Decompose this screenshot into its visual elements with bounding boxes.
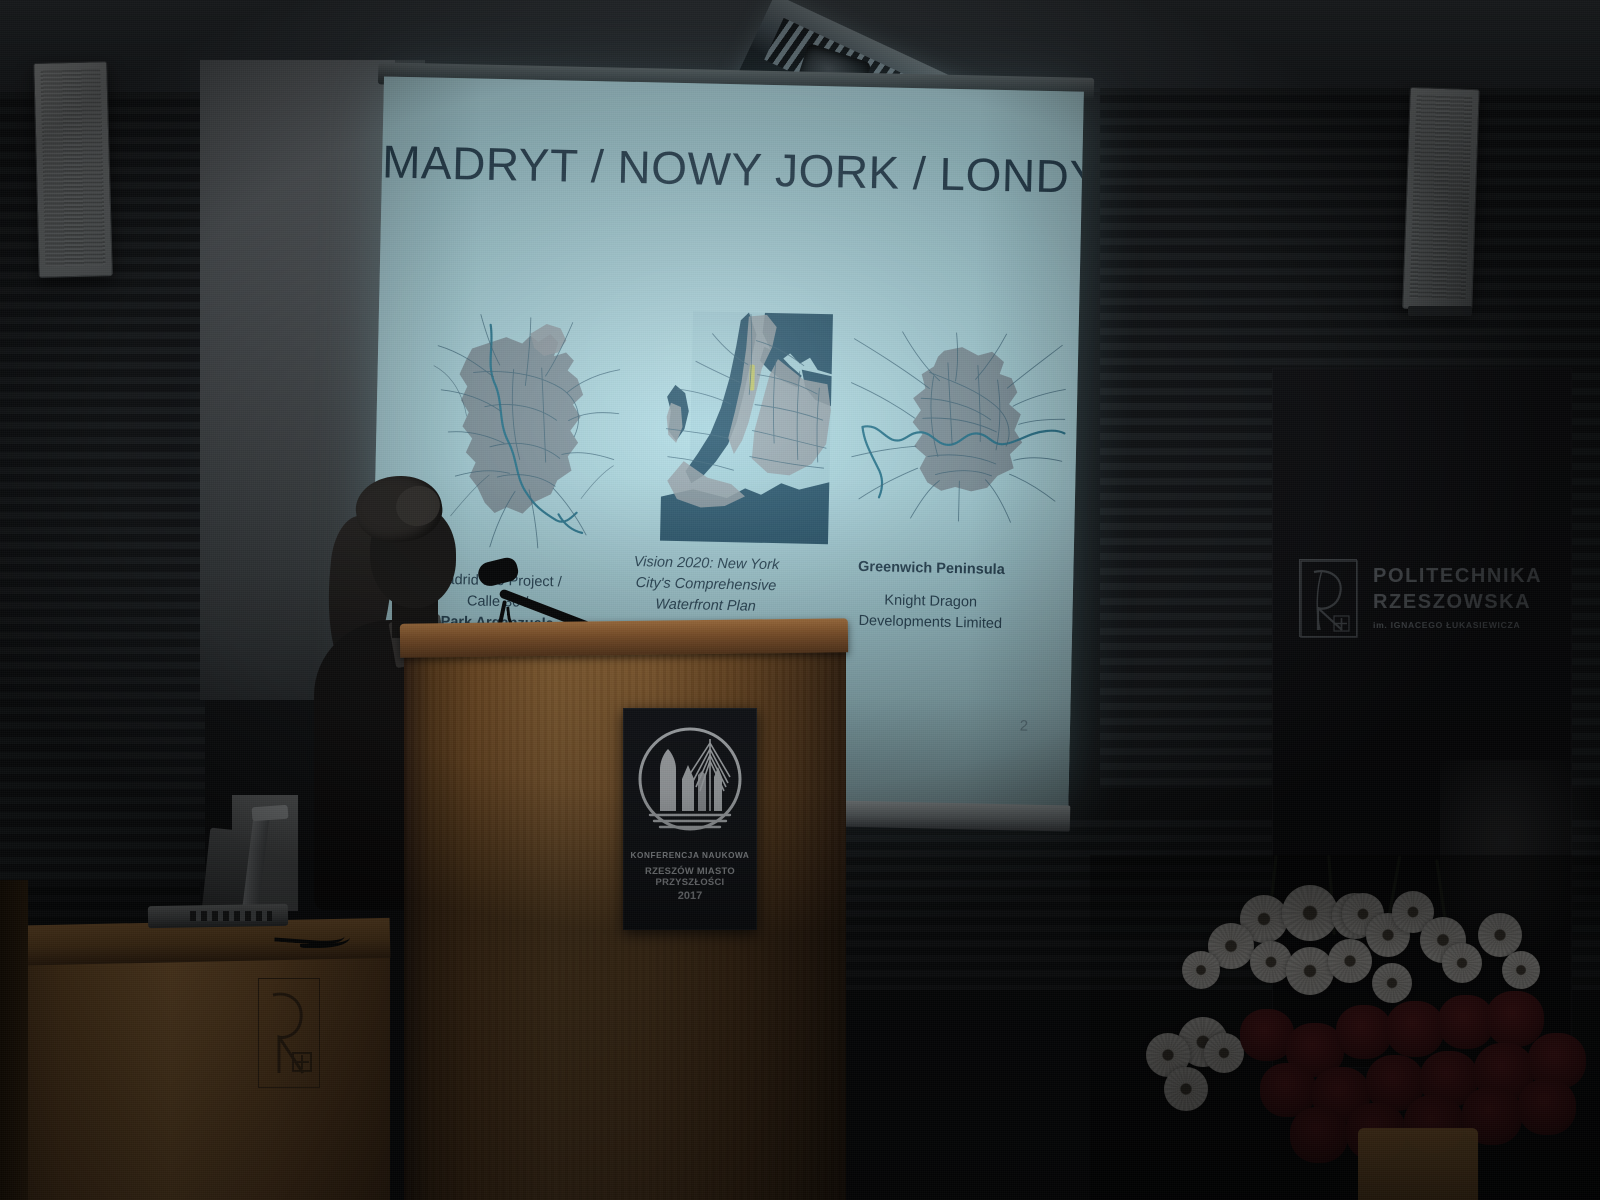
red-carnation bbox=[1518, 1079, 1576, 1135]
red-carnation bbox=[1290, 1107, 1348, 1163]
ny-caption-line-3: Waterfront Plan bbox=[590, 593, 820, 619]
banner-line-1: POLITECHNIKA bbox=[1373, 565, 1563, 588]
wall-speaker-right bbox=[1402, 87, 1480, 311]
chair-back bbox=[1358, 1128, 1478, 1200]
white-flower bbox=[1182, 951, 1220, 989]
conference-photo-scene: MADRYT / NOWY JORK / LONDYN bbox=[0, 0, 1600, 1200]
white-flower bbox=[1502, 951, 1540, 989]
rzeszow-bridge-skyline-logo-icon bbox=[638, 721, 742, 849]
white-flower bbox=[1442, 943, 1482, 983]
banner-text: POLITECHNIKA RZESZOWSKA im. IGNACEGO ŁUK… bbox=[1373, 565, 1563, 630]
podium-sign-line-1: KONFERENCJA NAUKOWA bbox=[624, 851, 756, 860]
prz-monogram-logo-icon bbox=[1299, 559, 1357, 637]
wall-speaker-left bbox=[33, 61, 113, 278]
white-flower bbox=[1282, 885, 1338, 941]
new-york-map-figure bbox=[648, 310, 833, 544]
podium-sign-text: KONFERENCJA NAUKOWA RZESZÓW MIASTO PRZYS… bbox=[624, 851, 756, 902]
podium-conference-sign: KONFERENCJA NAUKOWA RZESZÓW MIASTO PRZYS… bbox=[623, 708, 757, 930]
banner-line-2: RZESZOWSKA bbox=[1373, 591, 1563, 614]
london-map-svg bbox=[848, 331, 1067, 526]
flower-arrangement bbox=[1090, 855, 1600, 1200]
desk-prz-logo-icon bbox=[258, 978, 320, 1088]
white-flower bbox=[1164, 1067, 1208, 1111]
side-desk-edge bbox=[0, 880, 28, 1200]
slide-page-number: 2 bbox=[1019, 717, 1028, 734]
speaker-grille bbox=[1410, 95, 1473, 300]
speaker-grille bbox=[40, 69, 105, 267]
visualizer-camera-head bbox=[252, 805, 289, 821]
podium-sign-line-2: RZESZÓW MIASTO PRZYSZŁOŚCI bbox=[624, 865, 756, 887]
white-flower bbox=[1204, 1033, 1244, 1073]
speaker-mount bbox=[1408, 306, 1472, 316]
slide-title: MADRYT / NOWY JORK / LONDYN bbox=[382, 134, 1083, 203]
new-york-map-svg bbox=[648, 310, 833, 544]
red-carnation bbox=[1386, 1001, 1444, 1057]
london-map-figure bbox=[848, 331, 1067, 526]
white-flower bbox=[1478, 913, 1522, 957]
banner-line-3: im. IGNACEGO ŁUKASIEWICZA bbox=[1373, 620, 1563, 630]
red-carnation bbox=[1486, 991, 1544, 1047]
visualizer-ports bbox=[190, 911, 272, 921]
white-flower bbox=[1328, 939, 1372, 983]
white-flower bbox=[1372, 963, 1412, 1003]
new-york-caption: Vision 2020: New York City's Comprehensi… bbox=[590, 551, 821, 619]
podium-top bbox=[400, 618, 848, 657]
podium-sign-line-3: 2017 bbox=[624, 890, 756, 902]
red-carnation bbox=[1336, 1005, 1392, 1059]
side-desk-front bbox=[0, 952, 390, 1200]
white-flower bbox=[1286, 947, 1334, 995]
